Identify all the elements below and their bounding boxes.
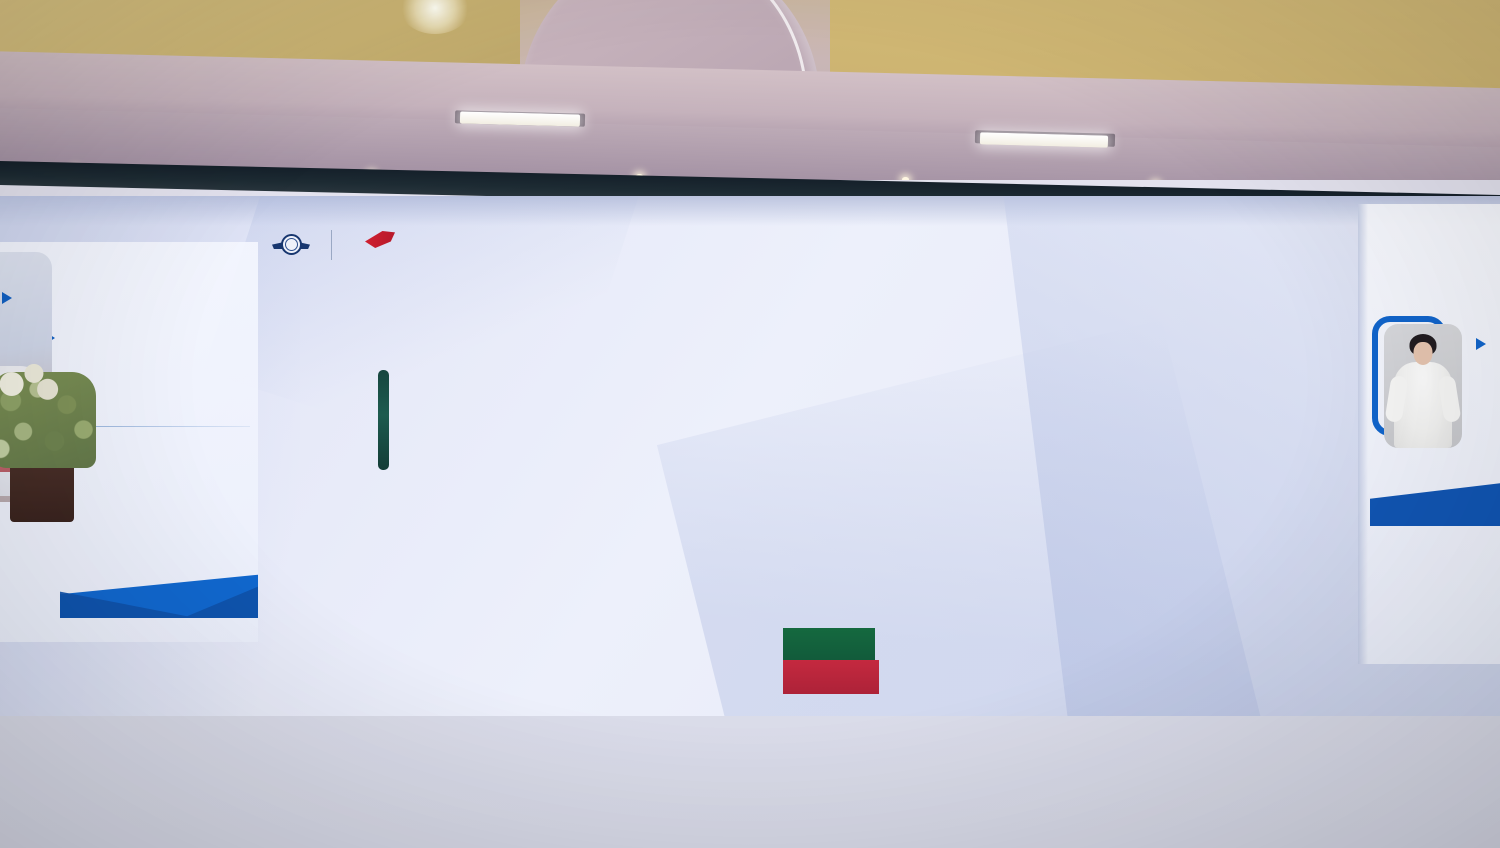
triangle-right-icon — [2, 292, 12, 304]
deheng-eagle-emblem-icon — [274, 233, 308, 257]
flower-blooms-white — [0, 362, 60, 406]
anniversary-swoosh-icon — [365, 231, 395, 248]
logo-divider — [331, 230, 332, 260]
anniversary-badge — [346, 231, 394, 259]
brand-logo — [274, 230, 394, 260]
triangle-right-icon — [1476, 338, 1486, 350]
portrait-face — [1414, 342, 1433, 365]
floral-arrangement — [0, 372, 96, 520]
screenshot-canvas — [0, 0, 1500, 848]
audience-area — [0, 430, 1500, 848]
